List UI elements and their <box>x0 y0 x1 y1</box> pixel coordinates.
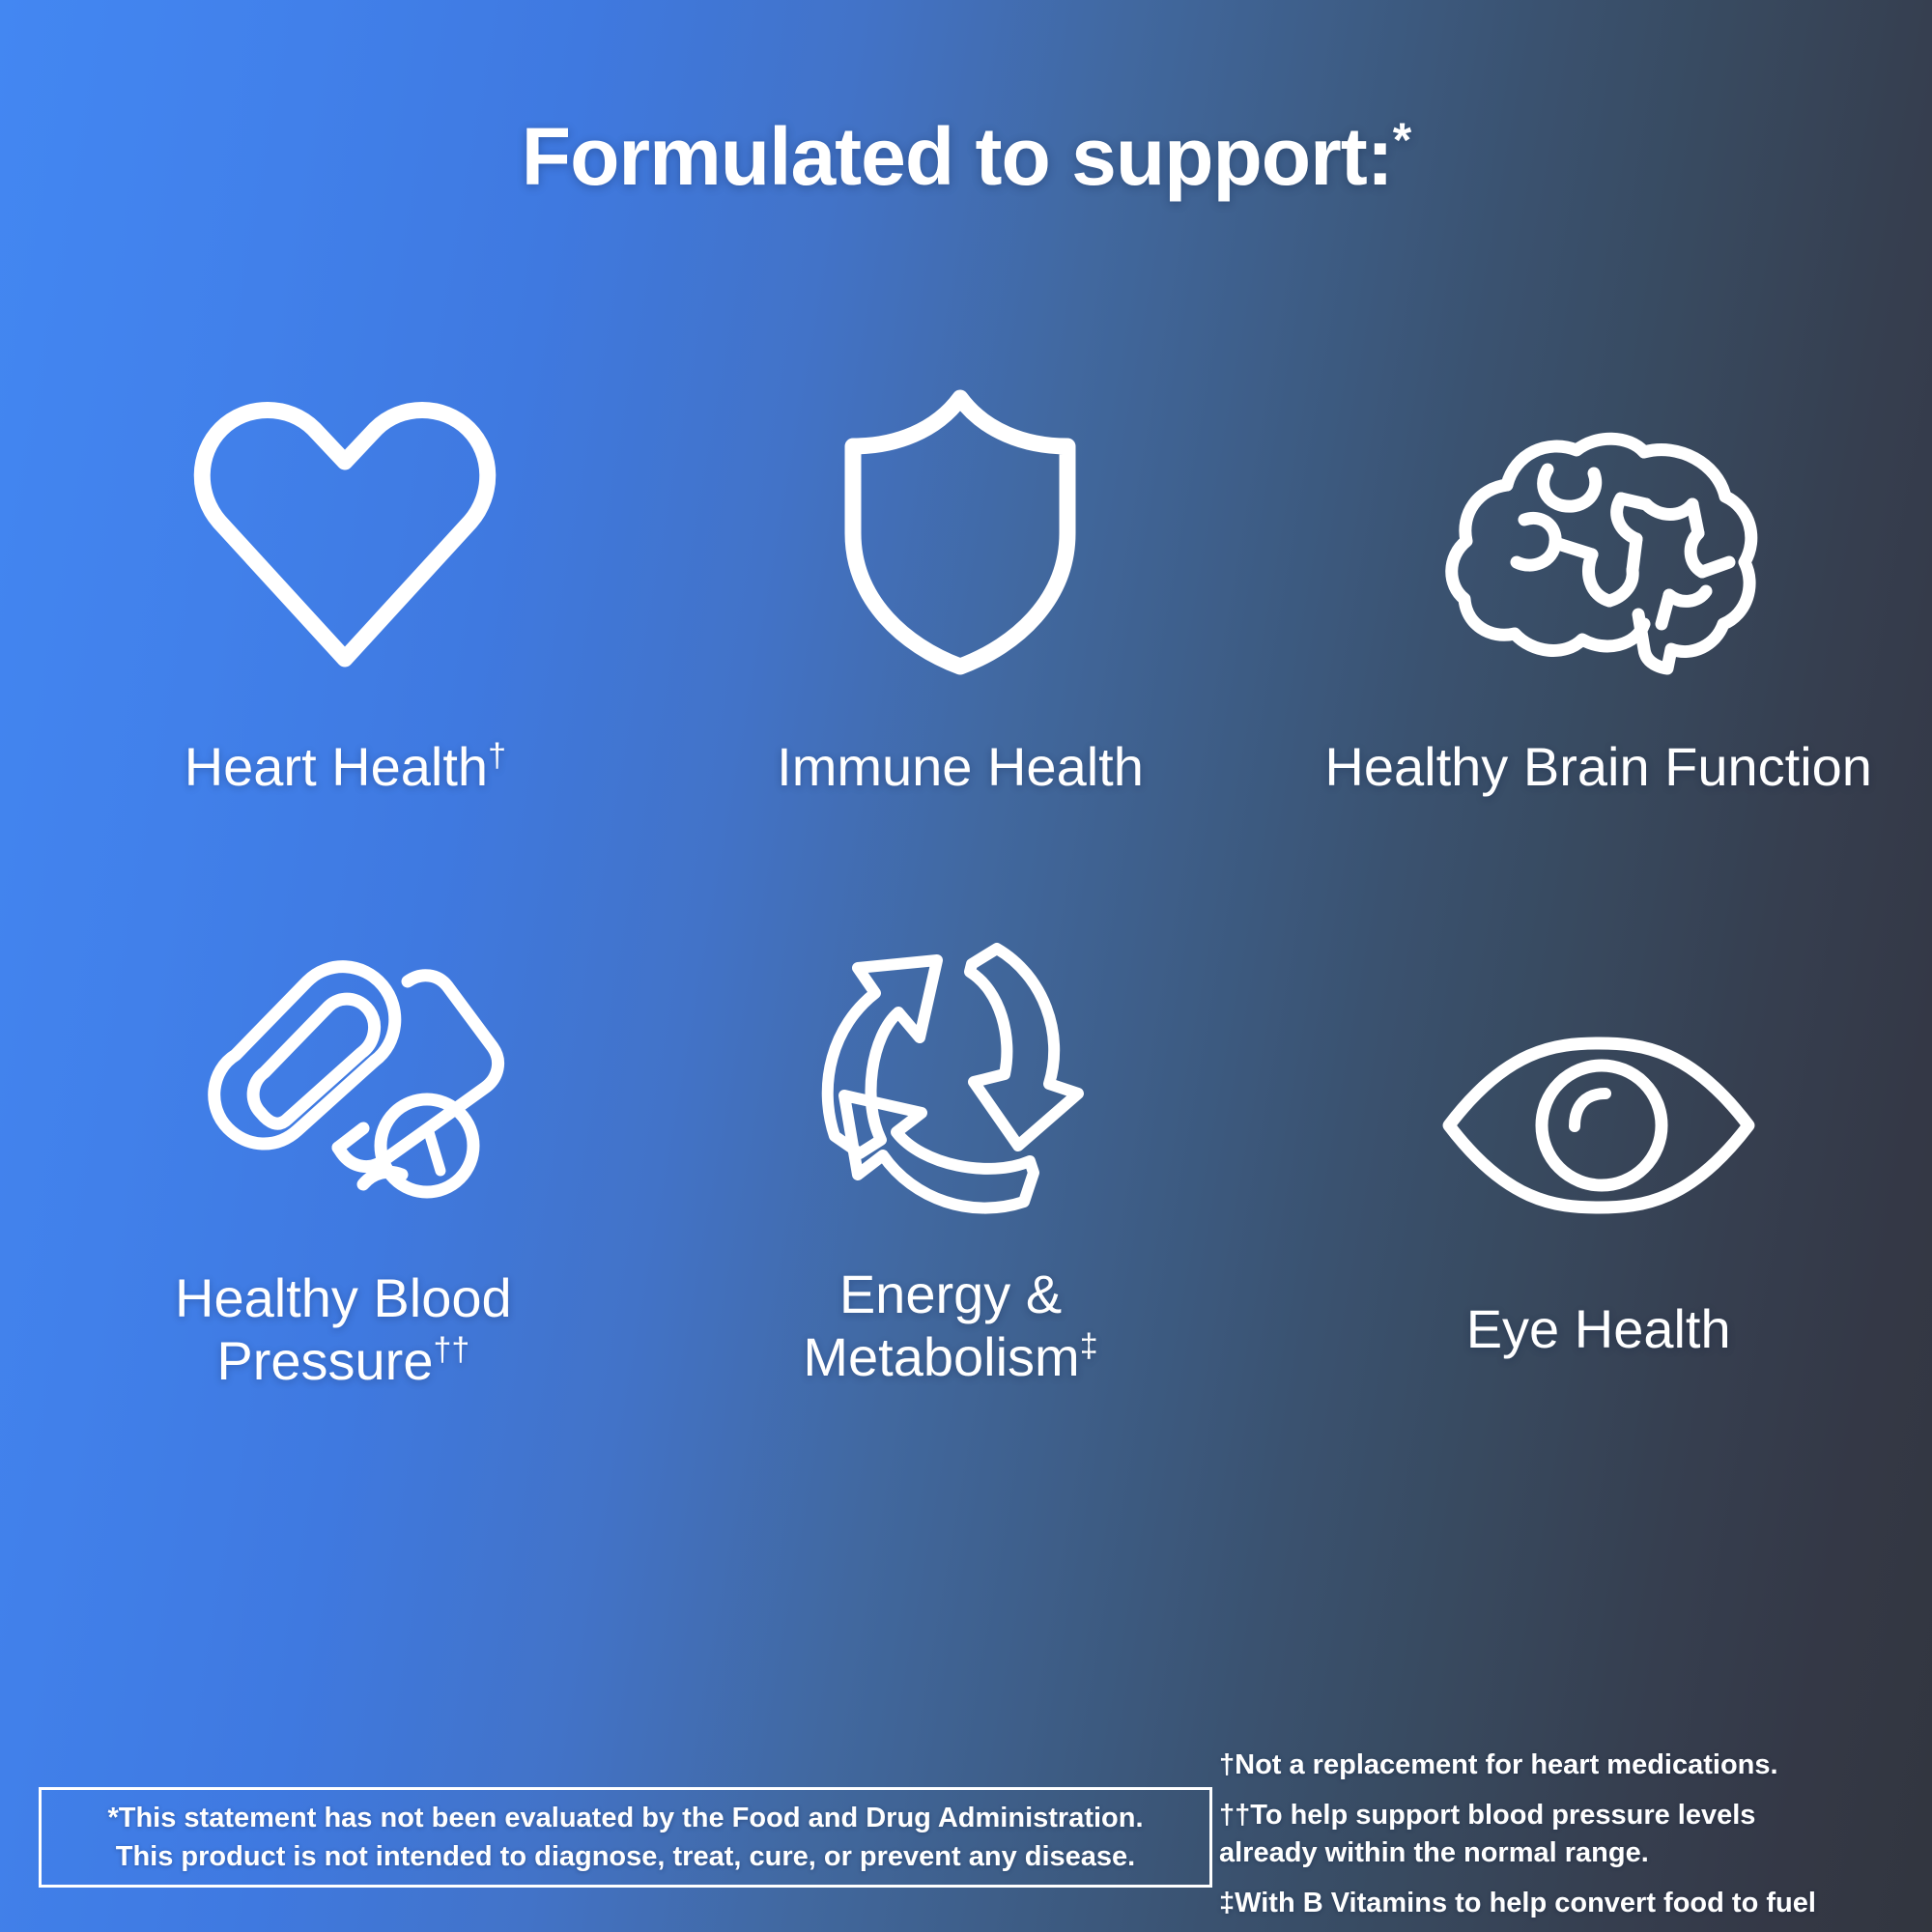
benefit-label-marker: ‡ <box>1080 1327 1098 1364</box>
recycle-arrows-icon <box>815 927 1086 1217</box>
benefit-heart-health: Heart Health† <box>43 386 648 927</box>
benefit-label-text: Heart Health <box>185 736 488 797</box>
benefit-label-marker: †† <box>433 1331 469 1368</box>
benefits-grid: Heart Health† Immune Health <box>58 386 1874 1468</box>
brain-icon <box>1439 386 1758 676</box>
benefit-label-text: Immune Health <box>777 736 1144 797</box>
page-title-asterisk: * <box>1393 113 1410 167</box>
benefit-label-marker: † <box>488 737 506 774</box>
benefit-label-text: Healthy Brain Function <box>1324 736 1872 797</box>
shield-icon <box>839 386 1081 676</box>
footnote-dagger: †Not a replacement for heart medications… <box>1219 1747 1915 1783</box>
benefit-healthy-brain-function: Healthy Brain Function <box>1295 386 1901 927</box>
heart-icon <box>190 386 499 676</box>
infographic-canvas: Formulated to support:* Heart Health† <box>0 0 1932 1932</box>
benefit-eye-health: Eye Health <box>1295 927 1901 1468</box>
benefit-label: Heart Health† <box>185 736 506 799</box>
benefit-label: Healthy Brain Function <box>1324 736 1872 799</box>
benefits-row-1: Heart Health† Immune Health <box>58 386 1874 927</box>
footnote-double-dagger: ††To help support blood pressure levels … <box>1219 1797 1915 1871</box>
benefit-immune-health: Immune Health <box>658 386 1264 927</box>
benefits-row-2: Healthy Blood Pressure†† Energy & Metabo… <box>58 927 1874 1468</box>
footnotes-list: †Not a replacement for heart medications… <box>1219 1747 1915 1921</box>
benefit-label: Healthy Blood Pressure†† <box>175 1267 512 1393</box>
benefit-label: Eye Health <box>1466 1298 1731 1361</box>
benefit-label: Immune Health <box>777 736 1144 799</box>
benefit-energy-metabolism: Energy & Metabolism‡ <box>648 927 1254 1468</box>
fda-disclaimer-box: *This statement has not been evaluated b… <box>39 1787 1212 1888</box>
benefit-label-text: Healthy Blood Pressure <box>175 1267 512 1391</box>
footnote-diesis: ‡With B Vitamins to help convert food to… <box>1219 1885 1915 1921</box>
benefit-label-text: Energy & Metabolism <box>803 1264 1079 1387</box>
page-title: Formulated to support:* <box>0 114 1932 199</box>
benefit-healthy-blood-pressure: Healthy Blood Pressure†† <box>41 927 646 1468</box>
eye-icon <box>1439 927 1758 1217</box>
benefit-label-text: Eye Health <box>1466 1298 1731 1359</box>
fda-disclaimer-text: *This statement has not been evaluated b… <box>107 1799 1143 1876</box>
page-title-text: Formulated to support: <box>522 111 1393 202</box>
blood-pressure-monitor-icon <box>184 927 502 1217</box>
benefit-label: Energy & Metabolism‡ <box>803 1264 1097 1389</box>
